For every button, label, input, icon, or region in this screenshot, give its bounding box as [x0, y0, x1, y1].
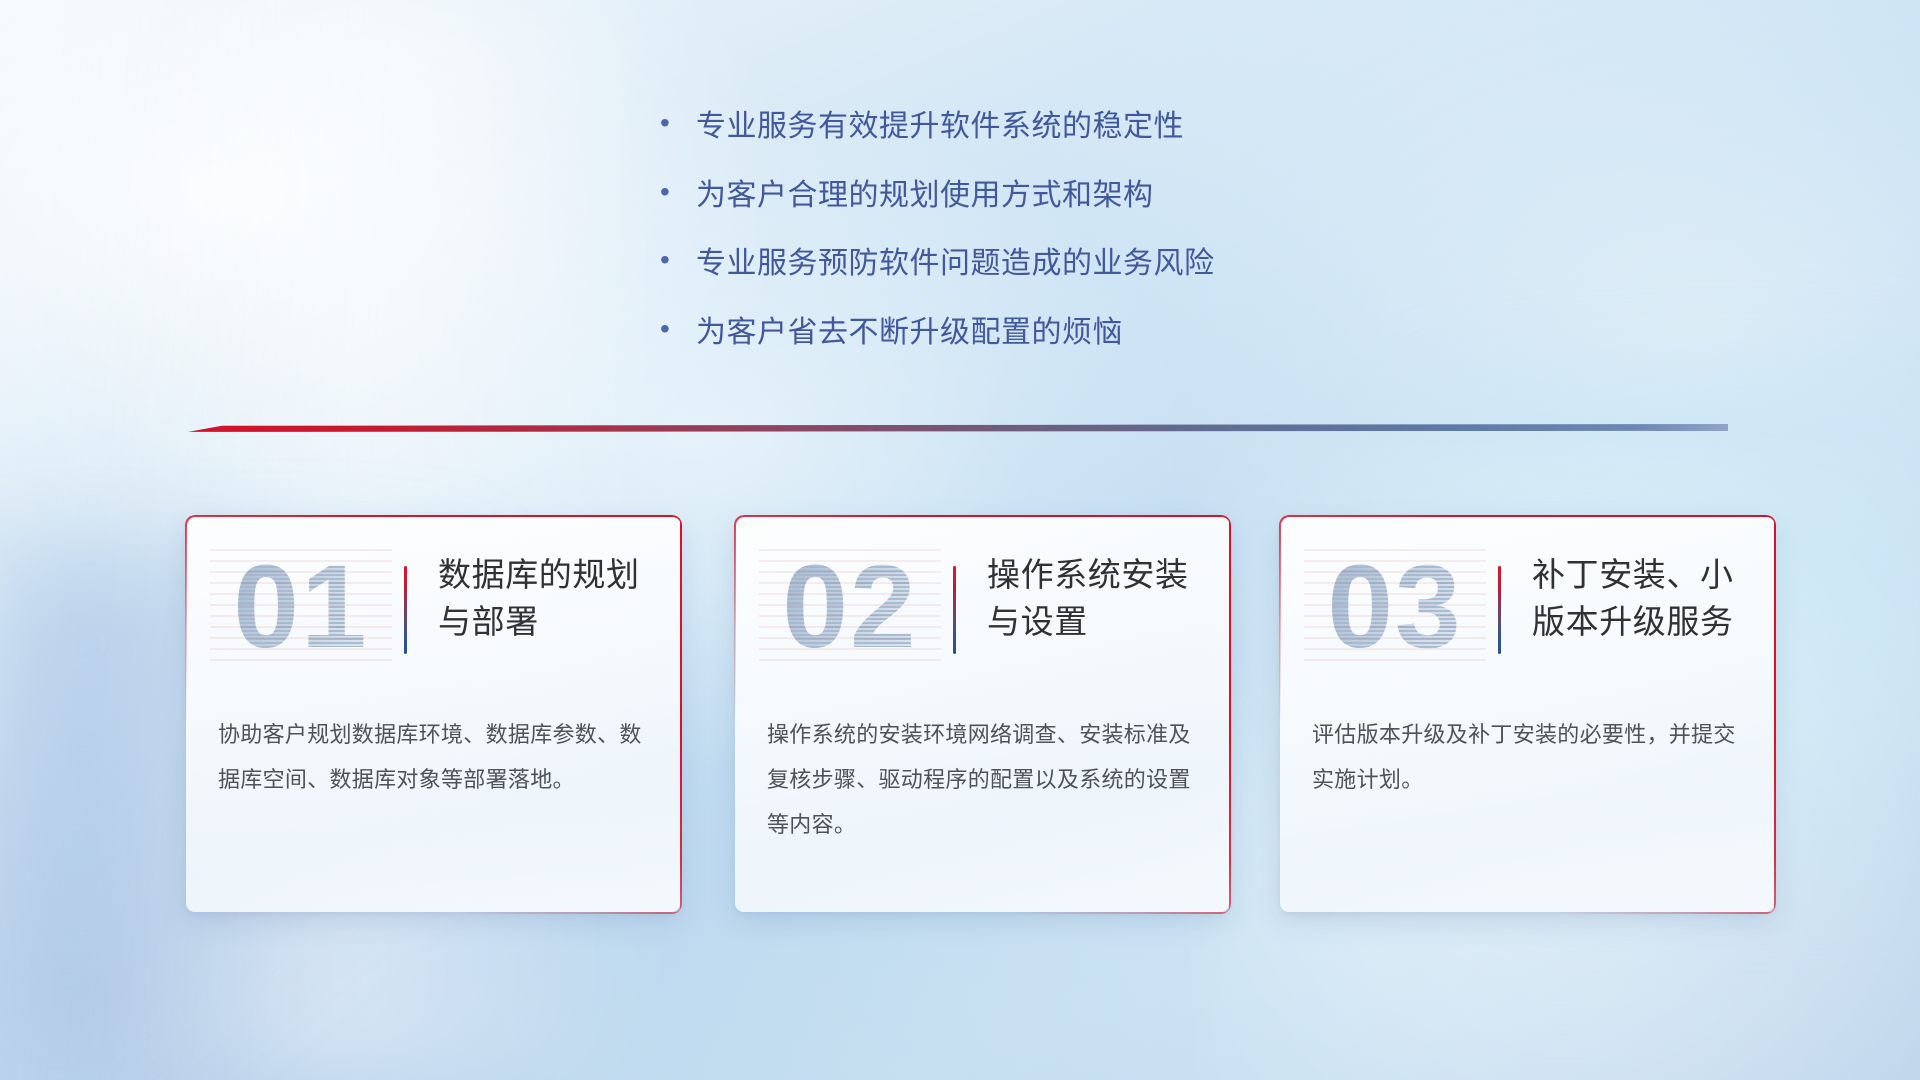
list-item: • 为客户省去不断升级配置的烦恼: [660, 314, 1480, 352]
bullet-text: 为客户省去不断升级配置的烦恼: [696, 314, 1123, 352]
card-accent-bar: [953, 566, 956, 654]
card-accent-bar: [404, 566, 407, 654]
list-item: • 为客户合理的规划使用方式和架构: [660, 177, 1480, 215]
bullet-dot-icon: •: [660, 109, 696, 137]
card-body-text: 操作系统的安装环境网络调查、安装标准及复核步骤、驱动程序的配置以及系统的设置等内…: [767, 712, 1203, 847]
bullet-dot-icon: •: [660, 246, 696, 274]
card-header: 01 数据库的规划与部署: [186, 516, 680, 700]
list-item: • 专业服务有效提升软件系统的稳定性: [660, 108, 1480, 146]
card-number: 02: [759, 544, 941, 670]
service-card-02[interactable]: 02 操作系统安装与设置 操作系统的安装环境网络调查、安装标准及复核步骤、驱动程…: [735, 516, 1229, 912]
benefits-bullet-list: • 专业服务有效提升软件系统的稳定性 • 为客户合理的规划使用方式和架构 • 专…: [660, 108, 1480, 382]
service-card-01[interactable]: 01 数据库的规划与部署 协助客户规划数据库环境、数据库参数、数据库空间、数据库…: [186, 516, 680, 912]
service-card-03[interactable]: 03 补丁安装、小版本升级服务 评估版本升级及补丁安装的必要性，并提交实施计划。: [1280, 516, 1774, 912]
card-title: 补丁安装、小版本升级服务: [1532, 552, 1756, 646]
bullet-text: 为客户合理的规划使用方式和架构: [696, 177, 1154, 215]
card-header: 03 补丁安装、小版本升级服务: [1280, 516, 1774, 700]
card-title: 操作系统安装与设置: [987, 552, 1211, 646]
card-body-text: 评估版本升级及补丁安装的必要性，并提交实施计划。: [1312, 712, 1748, 802]
gradient-divider: [188, 424, 1728, 435]
card-body-text: 协助客户规划数据库环境、数据库参数、数据库空间、数据库对象等部署落地。: [218, 712, 654, 802]
card-number: 03: [1304, 544, 1486, 670]
bullet-text: 专业服务预防软件问题造成的业务风险: [696, 245, 1215, 283]
list-item: • 专业服务预防软件问题造成的业务风险: [660, 245, 1480, 283]
slide-root: • 专业服务有效提升软件系统的稳定性 • 为客户合理的规划使用方式和架构 • 专…: [0, 0, 1920, 1080]
card-accent-bar: [1498, 566, 1501, 654]
bullet-text: 专业服务有效提升软件系统的稳定性: [696, 108, 1184, 146]
card-title: 数据库的规划与部署: [438, 552, 662, 646]
card-number: 01: [210, 544, 392, 670]
bullet-dot-icon: •: [660, 178, 696, 206]
divider-shape: [188, 424, 1728, 435]
card-header: 02 操作系统安装与设置: [735, 516, 1229, 700]
bullet-dot-icon: •: [660, 315, 696, 343]
